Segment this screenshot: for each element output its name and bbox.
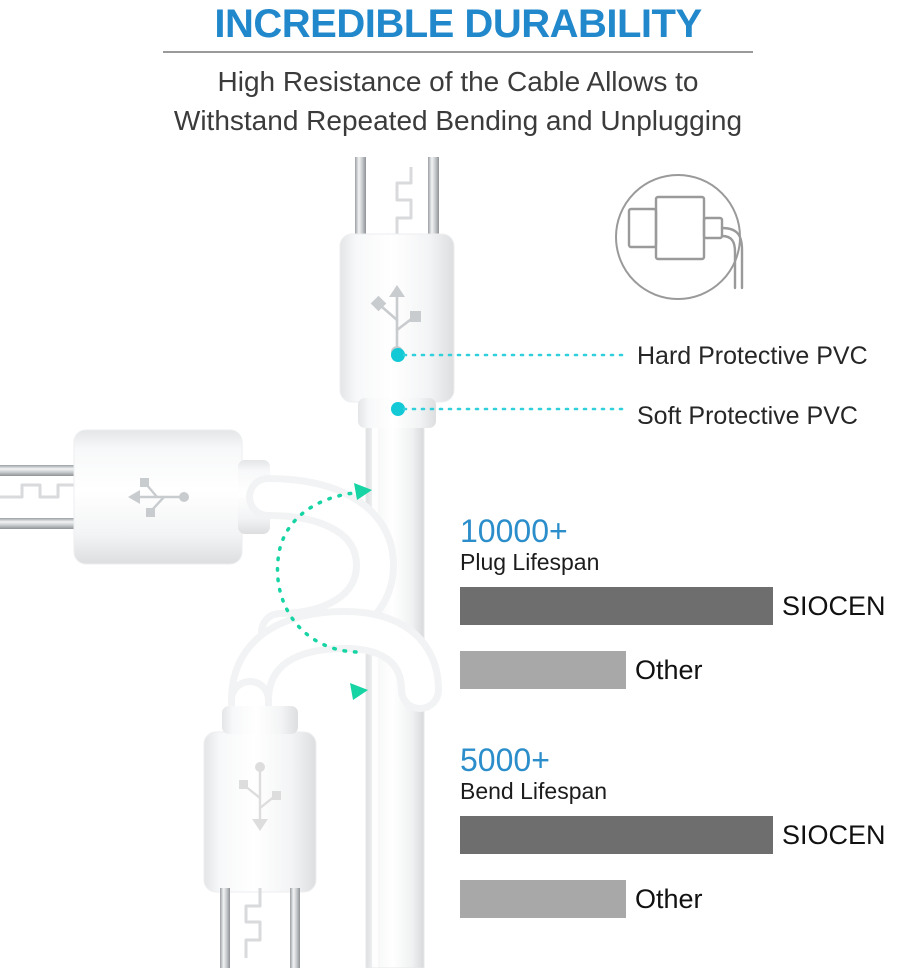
subtitle: High Resistance of the Cable Allows to W… bbox=[0, 62, 916, 140]
product-infographic: INCREDIBLE DURABILITY High Resistance of… bbox=[0, 0, 916, 968]
usb-connector-bottom bbox=[204, 706, 316, 968]
callout-leader-soft-pvc bbox=[391, 402, 624, 416]
bar-row-siocen-plug: SIOCEN bbox=[460, 587, 886, 625]
bent-cable-loops bbox=[250, 497, 420, 760]
stat-group-bend-lifespan: 5000+ Bend Lifespan SIOCEN Other bbox=[460, 743, 886, 918]
bend-direction-arrows bbox=[277, 483, 372, 700]
bar-label-other-plug: Other bbox=[635, 655, 703, 685]
bar-label-other-bend: Other bbox=[635, 884, 703, 914]
callout-label-soft-pvc: Soft Protective PVC bbox=[637, 402, 858, 430]
main-vertical-cable bbox=[366, 418, 424, 968]
bend-badge bbox=[616, 175, 742, 299]
bar-siocen-bend bbox=[460, 816, 773, 854]
header: INCREDIBLE DURABILITY High Resistance of… bbox=[0, 0, 916, 140]
usb-trident-icon bbox=[128, 478, 189, 517]
bar-siocen-plug bbox=[460, 587, 773, 625]
usb-trident-icon bbox=[371, 285, 421, 358]
bar-label-siocen-plug: SIOCEN bbox=[782, 591, 886, 621]
stat-value-bend: 5000+ bbox=[460, 743, 886, 777]
bar-row-other-plug: Other bbox=[460, 651, 886, 689]
bar-row-other-bend: Other bbox=[460, 880, 886, 918]
usb-connector-top bbox=[340, 157, 454, 428]
stat-value-plug: 10000+ bbox=[460, 514, 886, 548]
usb-trident-icon bbox=[239, 762, 281, 831]
bar-other-bend bbox=[460, 880, 626, 918]
usb-connector-left bbox=[0, 430, 270, 564]
bar-label-siocen-bend: SIOCEN bbox=[782, 820, 886, 850]
subtitle-line-1: High Resistance of the Cable Allows to bbox=[0, 62, 916, 101]
stat-group-plug-lifespan: 10000+ Plug Lifespan SIOCEN Other bbox=[460, 514, 886, 689]
title-divider bbox=[163, 51, 753, 53]
callout-leader-hard-pvc bbox=[391, 348, 624, 362]
stat-caption-plug: Plug Lifespan bbox=[460, 549, 886, 576]
bar-other-plug bbox=[460, 651, 626, 689]
page-title: INCREDIBLE DURABILITY bbox=[0, 2, 916, 46]
callout-label-hard-pvc: Hard Protective PVC bbox=[637, 342, 868, 370]
bar-row-siocen-bend: SIOCEN bbox=[460, 816, 886, 854]
usb-plug-bend-icon bbox=[629, 197, 742, 288]
stat-caption-bend: Bend Lifespan bbox=[460, 778, 886, 805]
subtitle-line-2: Withstand Repeated Bending and Unpluggin… bbox=[0, 101, 916, 140]
